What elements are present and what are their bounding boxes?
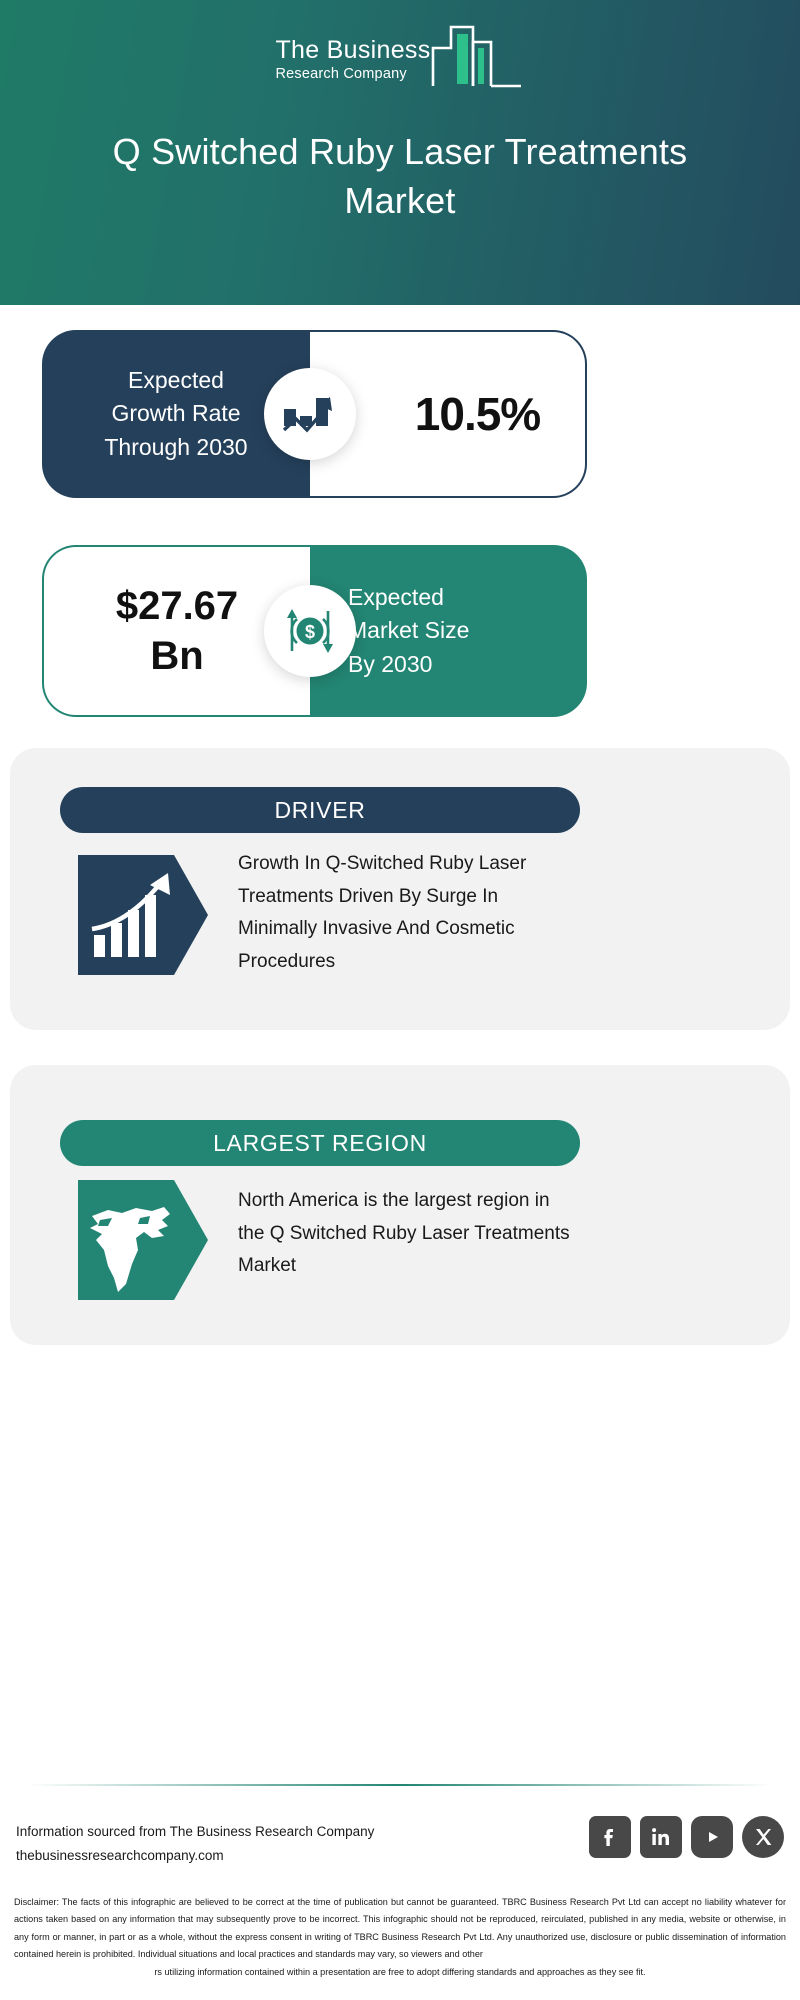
- driver-pill: DRIVER: [60, 787, 580, 833]
- source-website[interactable]: thebusinessresearchcompany.com: [16, 1844, 374, 1868]
- growth-rate-label-line-3: Through 2030: [104, 431, 247, 464]
- market-size-value-line-2: Bn: [150, 631, 203, 681]
- header-banner: The Business Research Company Q Switched…: [0, 0, 800, 305]
- driver-text: Growth In Q-Switched Ruby Laser Treatmen…: [238, 848, 578, 979]
- page-title: Q Switched Ruby Laser Treatments Market: [80, 128, 720, 225]
- growth-chart-arrow-icon: [264, 368, 356, 460]
- bar-chart-growth-arrow-icon: [78, 855, 208, 975]
- growth-rate-value: 10.5%: [355, 387, 540, 441]
- market-size-label-line-1: Expected: [310, 581, 587, 614]
- growth-rate-card: Expected Growth Rate Through 2030 10.5%: [42, 330, 587, 498]
- region-icon-arrow: [78, 1180, 208, 1300]
- source-credit: Information sourced from The Business Re…: [16, 1820, 374, 1867]
- youtube-icon[interactable]: [691, 1816, 733, 1858]
- social-links: [589, 1816, 784, 1858]
- region-text: North America is the largest region in t…: [238, 1185, 578, 1283]
- market-size-label-line-3: By 2030: [310, 648, 587, 681]
- driver-pill-label: DRIVER: [274, 797, 365, 824]
- region-pill-label: LARGEST REGION: [213, 1130, 427, 1157]
- market-size-value-line-1: $27.67: [116, 581, 238, 631]
- dollar-circular-arrows-icon: $: [264, 585, 356, 677]
- disclaimer-body: Disclaimer: The facts of this infographi…: [14, 1897, 786, 1959]
- footer-divider: [28, 1784, 772, 1786]
- logo-line-1: The Business: [275, 37, 430, 63]
- logo-text-block: The Business Research Company: [275, 37, 430, 92]
- region-pill: LARGEST REGION: [60, 1120, 580, 1166]
- bar-chart-logo-mark-icon: [429, 20, 525, 90]
- north-america-map-icon: [78, 1180, 208, 1300]
- market-size-card: $27.67 Bn Expected Market Size By 2030 $: [42, 545, 587, 717]
- linkedin-icon[interactable]: [640, 1816, 682, 1858]
- disclaimer-last-line: rs utilizing information contained withi…: [14, 1964, 786, 1981]
- source-line-1: Information sourced from The Business Re…: [16, 1820, 374, 1844]
- disclaimer-text: Disclaimer: The facts of this infographi…: [14, 1894, 786, 1981]
- svg-text:$: $: [305, 622, 315, 642]
- logo-line-2: Research Company: [275, 64, 406, 84]
- company-logo: The Business Research Company: [275, 20, 524, 92]
- facebook-icon[interactable]: [589, 1816, 631, 1858]
- growth-rate-label-line-1: Expected: [128, 364, 224, 397]
- driver-icon-arrow: [78, 855, 208, 975]
- growth-rate-label-line-2: Growth Rate: [111, 397, 240, 430]
- x-twitter-icon[interactable]: [742, 1816, 784, 1858]
